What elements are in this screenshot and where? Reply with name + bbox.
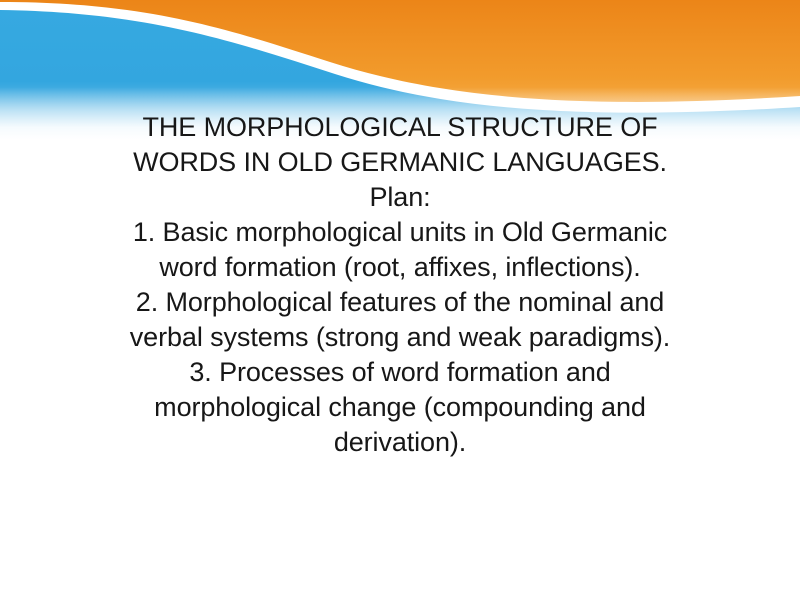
plan-item-1-line-2: word formation (root, affixes, inflectio… [0, 250, 800, 285]
plan-item-1: 1. Basic morphological units in Old Germ… [0, 215, 800, 285]
title-line-1: THE MORPHOLOGICAL STRUCTURE OF [0, 110, 800, 145]
plan-item-2-line-1: 2. Morphological features of the nominal… [0, 285, 800, 320]
slide: THE MORPHOLOGICAL STRUCTURE OF WORDS IN … [0, 0, 800, 600]
plan-item-3-line-1: 3. Processes of word formation and [0, 355, 800, 390]
plan-item-3-line-2: morphological change (compounding and [0, 390, 800, 425]
page-title: THE MORPHOLOGICAL STRUCTURE OF WORDS IN … [0, 110, 800, 180]
plan-item-3-line-3: derivation). [0, 425, 800, 460]
title-line-2: WORDS IN OLD GERMANIC LANGUAGES. [0, 145, 800, 180]
plan-item-3: 3. Processes of word formation and morph… [0, 355, 800, 460]
plan-label: Plan: [0, 180, 800, 215]
plan-item-1-line-1: 1. Basic morphological units in Old Germ… [0, 215, 800, 250]
slide-text-content: THE MORPHOLOGICAL STRUCTURE OF WORDS IN … [0, 110, 800, 460]
plan-item-2-line-2: verbal systems (strong and weak paradigm… [0, 320, 800, 355]
plan-list: 1. Basic morphological units in Old Germ… [0, 215, 800, 460]
plan-item-2: 2. Morphological features of the nominal… [0, 285, 800, 355]
